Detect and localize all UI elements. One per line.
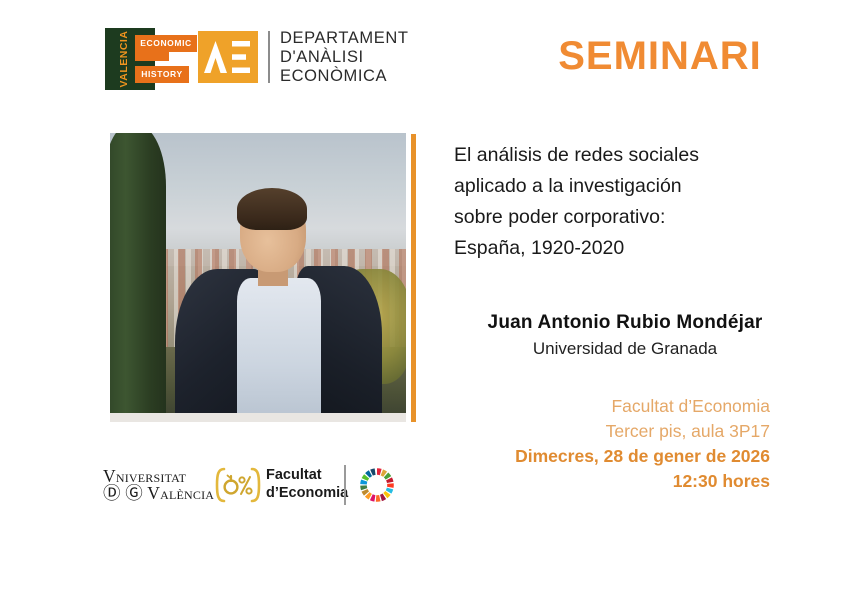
ae-department-line3: ECONÒMICA xyxy=(280,67,409,86)
talk-title-line-1: El análisis de redes sociales xyxy=(454,140,794,171)
ae-department-line1: DEPARTAMENT xyxy=(280,29,409,48)
orange-accent-bar xyxy=(411,134,416,422)
ae-department-line2: D'ANÀLISI xyxy=(280,48,409,67)
facultat-economia-label: Facultat d’Economia xyxy=(266,466,348,502)
seminari-heading: SEMINARI xyxy=(520,34,800,79)
poster-header: VALENCIA ECONOMIC HISTORY DEPARTAMENT D'… xyxy=(0,0,850,110)
universitat-de-valencia-logo: Vniversitat Ⓓ Ⓖ València xyxy=(103,468,214,502)
photo-person-hair xyxy=(237,188,307,230)
veh-bar-history: HISTORY xyxy=(135,66,189,83)
speaker-photo xyxy=(110,133,406,422)
veh-bar-economic: ECONOMIC xyxy=(135,35,197,52)
talk-title-line-3: sobre poder corporativo: xyxy=(454,202,794,233)
sdg-wheel-icon xyxy=(356,464,398,506)
ae-department-name: DEPARTAMENT D'ANÀLISI ECONÒMICA xyxy=(280,29,409,86)
venue-place: Facultat d’Economia xyxy=(440,394,770,419)
facultat-label-line1: Facultat xyxy=(266,466,348,484)
veh-vertical-label: VALENCIA xyxy=(117,28,131,90)
footer-divider xyxy=(344,465,346,505)
bracket-percent-icon xyxy=(214,466,262,504)
seminar-poster: VALENCIA ECONOMIC HISTORY DEPARTAMENT D'… xyxy=(0,0,850,596)
valencia-economic-history-logo: VALENCIA ECONOMIC HISTORY xyxy=(105,28,195,90)
talk-title-line-2: aplicado a la investigación xyxy=(454,171,794,202)
ae-logo-divider xyxy=(268,31,270,83)
ae-mark-icon xyxy=(198,31,258,83)
speaker-block: Juan Antonio Rubio Mondéjar Universidad … xyxy=(440,310,810,361)
poster-footer: Vniversitat Ⓓ Ⓖ València Facultat d’Econ… xyxy=(0,455,850,525)
speaker-photo-illustration xyxy=(110,133,406,422)
photo-person-shirt xyxy=(237,278,321,423)
uv-logo-line2: Ⓓ Ⓖ València xyxy=(103,485,214,502)
speaker-affiliation: Universidad de Granada xyxy=(440,336,810,361)
talk-title: El análisis de redes sociales aplicado a… xyxy=(454,140,794,264)
photo-bottom-edge xyxy=(110,413,406,422)
facultat-label-line2: d’Economia xyxy=(266,484,348,502)
venue-room: Tercer pis, aula 3P17 xyxy=(440,419,770,444)
veh-middle-stub xyxy=(135,52,169,61)
speaker-name: Juan Antonio Rubio Mondéjar xyxy=(440,310,810,336)
talk-title-line-4: España, 1920-2020 xyxy=(454,233,794,264)
photo-cypress-tree xyxy=(110,133,166,422)
